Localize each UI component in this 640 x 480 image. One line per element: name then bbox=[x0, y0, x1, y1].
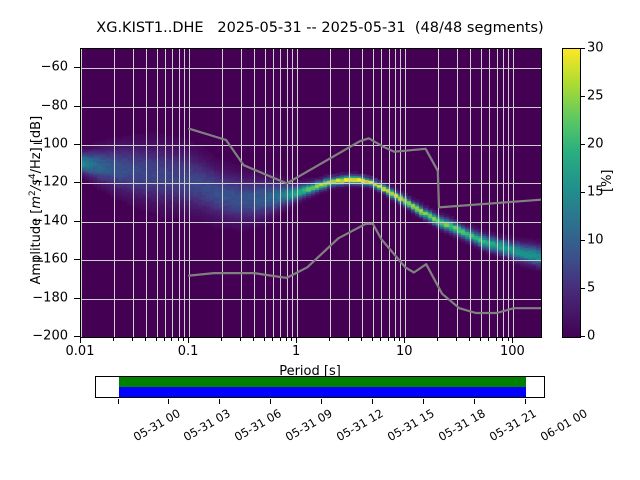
ppsd-figure: XG.KIST1..DHE 2025-05-31 -- 2025-05-31 (… bbox=[0, 0, 640, 480]
x-tick bbox=[372, 337, 373, 341]
x-tick bbox=[253, 337, 254, 341]
x-tick bbox=[404, 337, 405, 343]
x-tick bbox=[361, 337, 362, 341]
timeline-psd-band bbox=[119, 387, 526, 397]
x-tick bbox=[480, 337, 481, 341]
timeline-tick-label: 05-31 18 bbox=[436, 406, 488, 444]
timeline-tick-label: 05-31 09 bbox=[283, 406, 335, 444]
y-tick bbox=[74, 144, 80, 145]
timeline-tick bbox=[474, 399, 475, 404]
x-tick-label: 100 bbox=[500, 344, 525, 359]
timeline-tick bbox=[321, 399, 322, 404]
colorbar-tick bbox=[580, 192, 585, 193]
timeline-tick-label: 05-31 15 bbox=[385, 406, 437, 444]
y-tick-label: −60 bbox=[41, 60, 68, 75]
timeline-tick-label: 05-31 12 bbox=[334, 406, 386, 444]
x-tick bbox=[264, 337, 265, 341]
colorbar-tick bbox=[580, 96, 585, 97]
x-tick bbox=[394, 337, 395, 341]
y-axis-label-mid: /s bbox=[29, 179, 44, 190]
colorbar-title: [%] bbox=[600, 170, 615, 193]
x-tick bbox=[272, 337, 273, 341]
y-tick-label: −80 bbox=[41, 98, 68, 113]
y-axis-label-suffix: /Hz] [dB] bbox=[29, 116, 44, 174]
colorbar-tick bbox=[580, 48, 585, 49]
y-axis-label-exp-4: 4 bbox=[28, 173, 38, 179]
x-tick bbox=[113, 337, 114, 341]
timeline-tick bbox=[168, 399, 169, 404]
timeline-tick-label: 06-01 00 bbox=[538, 406, 590, 444]
x-tick bbox=[437, 337, 438, 341]
x-tick bbox=[280, 337, 281, 341]
x-tick bbox=[145, 337, 146, 341]
colorbar-tick bbox=[580, 288, 585, 289]
x-tick bbox=[296, 337, 297, 343]
x-tick bbox=[502, 337, 503, 341]
colorbar-tick bbox=[580, 144, 585, 145]
colorbar-tick-label: 10 bbox=[587, 233, 604, 248]
x-tick bbox=[512, 337, 513, 343]
x-tick bbox=[188, 337, 189, 343]
x-tick bbox=[286, 337, 287, 341]
noise-model-curves bbox=[81, 49, 541, 337]
colorbar-tick-label: 0 bbox=[587, 329, 595, 344]
y-axis-label: Amplitude [m2/s4/Hz] [dB] bbox=[28, 60, 44, 340]
y-axis-label-prefix: Amplitude [ bbox=[29, 209, 44, 285]
timeline-tick-label: 05-31 03 bbox=[181, 406, 233, 444]
y-tick bbox=[74, 259, 80, 260]
x-tick bbox=[132, 337, 133, 341]
colorbar bbox=[562, 48, 581, 338]
timeline-track[interactable] bbox=[95, 376, 545, 398]
x-tick bbox=[488, 337, 489, 341]
timeline-tick bbox=[219, 399, 220, 404]
colorbar-tick-label: 30 bbox=[587, 41, 604, 56]
x-tick bbox=[456, 337, 457, 341]
timeline-tick-label: 05-31 00 bbox=[130, 406, 182, 444]
colorbar-tick-label: 5 bbox=[587, 281, 595, 296]
y-tick bbox=[74, 106, 80, 107]
colorbar-tick-label: 20 bbox=[587, 137, 604, 152]
x-tick bbox=[171, 337, 172, 341]
x-tick-label: 1 bbox=[292, 344, 300, 359]
x-tick bbox=[469, 337, 470, 341]
colorbar-tick bbox=[580, 240, 585, 241]
ppsd-axes-inner bbox=[81, 49, 541, 337]
x-tick bbox=[508, 337, 509, 341]
x-tick-label: 0.1 bbox=[178, 344, 199, 359]
x-tick bbox=[329, 337, 330, 341]
x-tick-label: 0.01 bbox=[66, 344, 95, 359]
timeline-tick-label: 05-31 06 bbox=[232, 406, 284, 444]
y-tick bbox=[74, 221, 80, 222]
timeline-tick bbox=[423, 399, 424, 404]
x-tick bbox=[399, 337, 400, 341]
timeline-tick bbox=[270, 399, 271, 404]
x-tick bbox=[164, 337, 165, 341]
x-tick bbox=[80, 337, 81, 343]
timeline-tick bbox=[372, 399, 373, 404]
timeline-data-band bbox=[119, 377, 526, 387]
x-tick bbox=[380, 337, 381, 341]
colorbar-tick-label: 25 bbox=[587, 89, 604, 104]
y-tick bbox=[74, 336, 80, 337]
x-tick bbox=[183, 337, 184, 341]
ppsd-axes bbox=[80, 48, 542, 338]
x-tick bbox=[496, 337, 497, 341]
y-axis-label-exp-2: 2 bbox=[28, 190, 38, 196]
x-tick bbox=[348, 337, 349, 341]
x-tick bbox=[178, 337, 179, 341]
x-tick bbox=[240, 337, 241, 341]
figure-title: XG.KIST1..DHE 2025-05-31 -- 2025-05-31 (… bbox=[0, 20, 640, 36]
x-tick bbox=[221, 337, 222, 341]
x-tick bbox=[156, 337, 157, 341]
y-tick bbox=[74, 67, 80, 68]
y-axis-label-unit-m: m bbox=[29, 196, 44, 209]
timeline-tick bbox=[118, 399, 119, 404]
y-tick bbox=[74, 298, 80, 299]
x-tick-label: 10 bbox=[396, 344, 413, 359]
y-tick bbox=[74, 182, 80, 183]
timeline-tick-label: 05-31 21 bbox=[487, 406, 539, 444]
x-tick bbox=[291, 337, 292, 341]
colorbar-tick bbox=[580, 336, 585, 337]
x-tick bbox=[388, 337, 389, 341]
timeline-tick bbox=[525, 399, 526, 404]
